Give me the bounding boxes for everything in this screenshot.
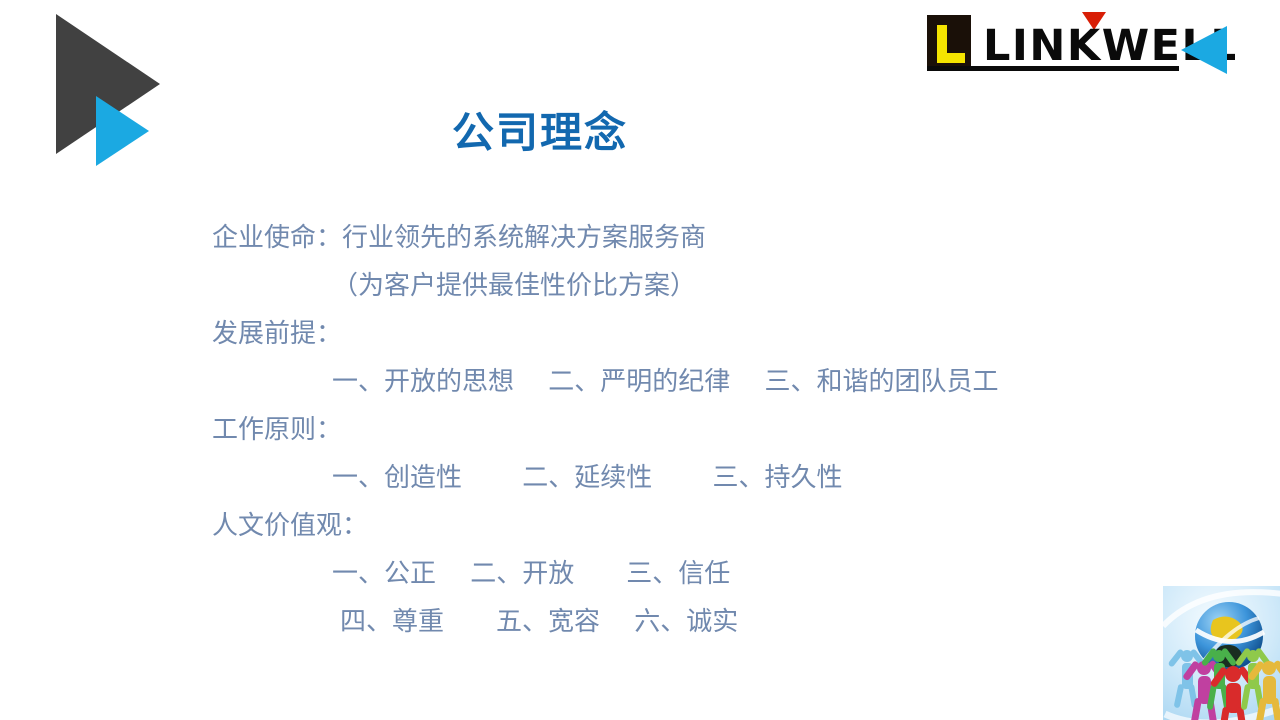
content-line-premise-items: 一、开放的思想 二、严明的纪律 三、和谐的团队员工 (212, 358, 1152, 406)
logo-underline (927, 66, 1179, 71)
content-line-values-heading: 人文价值观： (212, 502, 1152, 550)
content-line-mission: 企业使命：行业领先的系统解决方案服务商 (212, 214, 1152, 262)
content-line-principles-items: 一、创造性 二、延续性 三、持久性 (212, 454, 1152, 502)
content-line-values-items-2: 四、尊重 五、宽容 六、诚实 (212, 598, 1152, 646)
content-text-block: 企业使命：行业领先的系统解决方案服务商 （为客户提供最佳性价比方案） 发展前提：… (212, 214, 1152, 646)
content-line-premise-heading: 发展前提： (212, 310, 1152, 358)
linkwell-logo: LINKWELL (925, 8, 1235, 90)
slide-canvas: LINKWELL 公司理念 企业使命：行业领先的系统解决方案服务商 （为客户提供… (0, 0, 1280, 720)
content-line-mission-sub: （为客户提供最佳性价比方案） (212, 262, 1152, 310)
content-line-principles-heading: 工作原则： (212, 406, 1152, 454)
content-line-values-items-1: 一、公正 二、开放 三、信任 (212, 550, 1152, 598)
teamwork-globe-image (1163, 586, 1280, 720)
decorative-arrows (0, 0, 200, 200)
page-title: 公司理念 (0, 108, 1080, 158)
